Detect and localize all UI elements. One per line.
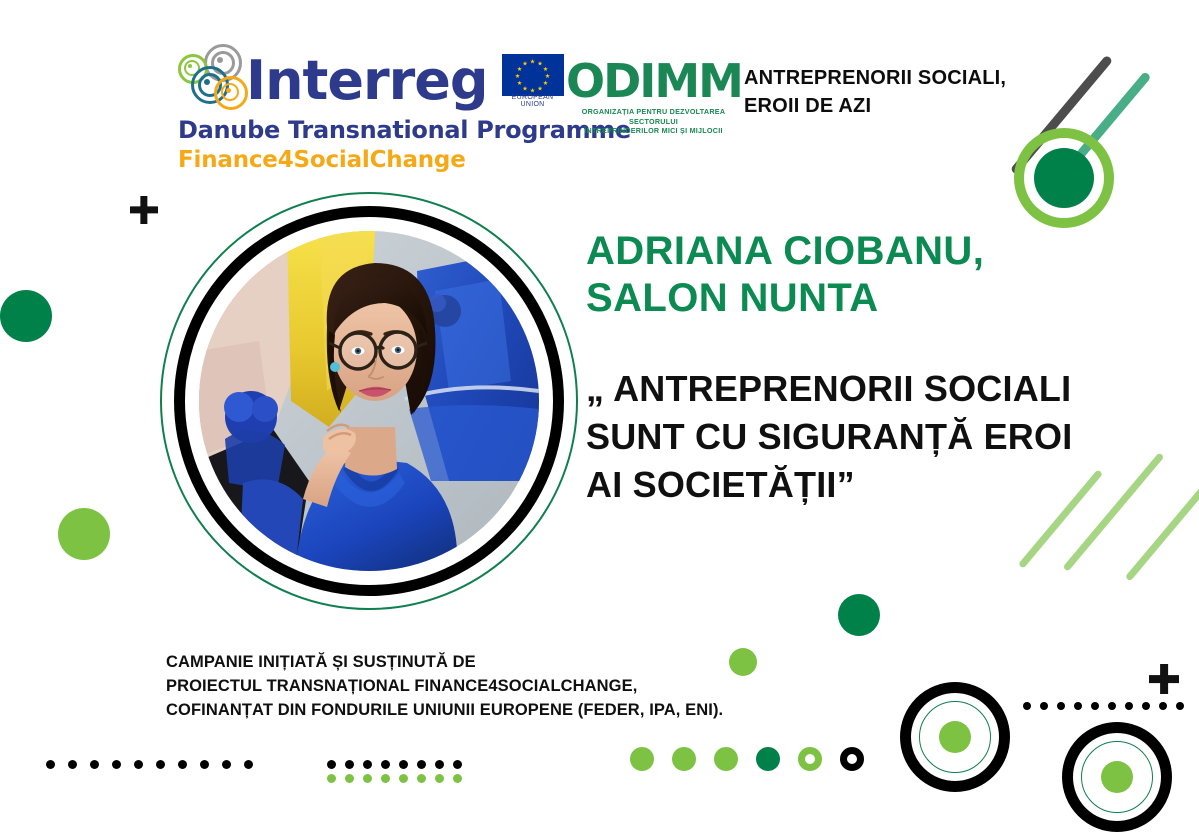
dot-row bbox=[630, 747, 864, 771]
dot bbox=[435, 760, 444, 769]
interreg-logo-top: Interreg EUROPEAN UNION bbox=[178, 40, 528, 110]
dark-green-circle bbox=[838, 594, 880, 636]
dot bbox=[200, 760, 209, 769]
dot bbox=[327, 760, 336, 769]
dot bbox=[1159, 702, 1167, 710]
header-tagline: ANTREPRENORII SOCIALI, EROII DE AZI bbox=[744, 64, 1006, 120]
dot bbox=[399, 774, 408, 783]
odimm-wordmark: ODIMM bbox=[566, 58, 741, 104]
dot bbox=[453, 760, 462, 769]
dot bbox=[46, 760, 55, 769]
light-green-circle bbox=[729, 648, 757, 676]
dot bbox=[630, 747, 654, 771]
portrait-photo bbox=[199, 231, 539, 571]
dot bbox=[417, 760, 426, 769]
dot bbox=[417, 774, 426, 783]
dot bbox=[1142, 702, 1150, 710]
dot-block-black-row bbox=[327, 760, 462, 769]
dot bbox=[1091, 702, 1099, 710]
dark-green-circle bbox=[0, 290, 52, 342]
dot bbox=[90, 760, 99, 769]
dot bbox=[1057, 702, 1065, 710]
dotted-line-left bbox=[46, 760, 253, 769]
dot bbox=[756, 747, 780, 771]
dot bbox=[672, 747, 696, 771]
concentric-target-circle-center bbox=[1101, 761, 1133, 793]
footer-text: CAMPANIE INIȚIATĂ ȘI SUSȚINUTĂ DE PROIEC… bbox=[166, 650, 723, 722]
dot-ring bbox=[798, 747, 822, 771]
interreg-subtitle: Danube Transnational Programme bbox=[178, 116, 528, 144]
portrait-image bbox=[199, 231, 539, 571]
dot bbox=[178, 760, 187, 769]
interreg-project-name: Finance4SocialChange bbox=[178, 147, 528, 173]
dot-block-green-row bbox=[327, 774, 462, 783]
dot bbox=[363, 774, 372, 783]
dot bbox=[345, 760, 354, 769]
dot bbox=[453, 774, 462, 783]
dot-ring bbox=[840, 747, 864, 771]
poster-canvas: Interreg EUROPEAN UNION Danube Transnati… bbox=[0, 0, 1199, 840]
dot bbox=[1074, 702, 1082, 710]
dot bbox=[399, 760, 408, 769]
dot bbox=[68, 760, 77, 769]
dot bbox=[363, 760, 372, 769]
dot bbox=[1040, 702, 1048, 710]
concentric-target-circle-center bbox=[939, 721, 971, 753]
eu-flag-caption: EUROPEAN UNION bbox=[502, 94, 564, 108]
odimm-subtitle-line-1: ORGANIZAȚIA PENTRU DEZVOLTAREA SECTORULU… bbox=[566, 107, 741, 126]
dot bbox=[156, 760, 165, 769]
dot bbox=[1176, 702, 1184, 710]
dot bbox=[1108, 702, 1116, 710]
dot bbox=[345, 774, 354, 783]
dot bbox=[244, 760, 253, 769]
dot bbox=[1125, 702, 1133, 710]
dotted-connector bbox=[1023, 702, 1184, 710]
plus-icon bbox=[130, 196, 158, 224]
dot bbox=[112, 760, 121, 769]
dot bbox=[381, 760, 390, 769]
dot bbox=[222, 760, 231, 769]
odimm-subtitle-line-2: ÎNTREPRINDERILOR MICI ȘI MIJLOCII bbox=[566, 126, 741, 136]
eu-flag-icon: EUROPEAN UNION bbox=[502, 54, 564, 96]
dot bbox=[1023, 702, 1031, 710]
pale-green-diagonal-line bbox=[1125, 487, 1199, 582]
interreg-wordmark: Interreg bbox=[246, 54, 488, 108]
odimm-subtitle: ORGANIZAȚIA PENTRU DEZVOLTAREA SECTORULU… bbox=[566, 107, 741, 136]
dot bbox=[435, 774, 444, 783]
dot bbox=[327, 774, 336, 783]
interreg-logo: Interreg EUROPEAN UNION Danube Transnati… bbox=[178, 40, 528, 173]
dot bbox=[714, 747, 738, 771]
interreg-swirl-icon bbox=[178, 44, 250, 110]
dot bbox=[381, 774, 390, 783]
dot bbox=[134, 760, 143, 769]
quote-text: „ ANTREPRENORII SOCIALI SUNT CU SIGURANȚ… bbox=[586, 365, 1072, 509]
green-ring-inner-dot bbox=[1034, 148, 1094, 208]
portrait bbox=[160, 192, 578, 610]
person-name: ADRIANA CIOBANU, SALON NUNTA bbox=[586, 228, 984, 322]
plus-icon bbox=[1149, 664, 1179, 694]
odimm-logo: ODIMM ORGANIZAȚIA PENTRU DEZVOLTAREA SEC… bbox=[566, 58, 741, 136]
light-green-circle bbox=[58, 508, 110, 560]
